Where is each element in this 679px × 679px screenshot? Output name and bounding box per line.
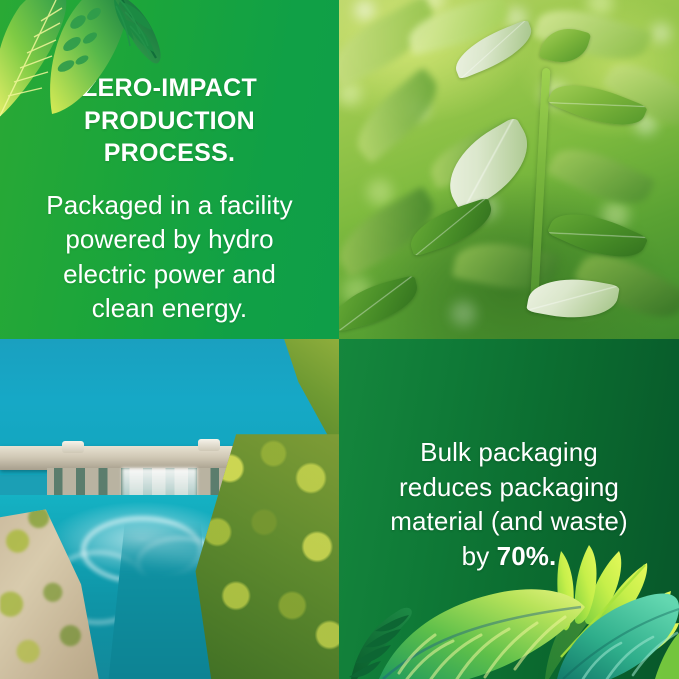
zero-impact-copy: ZERO-IMPACT PRODUCTION PROCESS. Packaged… bbox=[0, 72, 339, 326]
panel-zero-impact: ZERO-IMPACT PRODUCTION PROCESS. Packaged… bbox=[0, 0, 339, 339]
dam-tower-mid bbox=[198, 439, 220, 451]
dam-tower-left bbox=[62, 441, 84, 453]
eco-infographic: ZERO-IMPACT PRODUCTION PROCESS. Packaged… bbox=[0, 0, 679, 679]
body-line-4: by 70%. bbox=[359, 539, 659, 574]
body-line-4: clean energy. bbox=[22, 291, 317, 326]
body-line-3: material (and waste) bbox=[359, 504, 659, 539]
page-title: ZERO-IMPACT PRODUCTION PROCESS. bbox=[22, 72, 317, 170]
banana-leaf-icon bbox=[379, 589, 585, 679]
panel-bulk-packaging: Bulk packaging reduces packaging materia… bbox=[339, 339, 679, 679]
tea-leaf-bottom-left bbox=[339, 275, 424, 333]
body-line-1: Packaged in a facility bbox=[22, 188, 317, 223]
tea-plantation-image bbox=[339, 0, 679, 339]
body-line-1: Bulk packaging bbox=[359, 435, 659, 470]
body-line-2: reduces packaging bbox=[359, 470, 659, 505]
fern-frond-icon bbox=[349, 608, 412, 679]
hydroelectric-dam-image bbox=[0, 339, 339, 679]
zero-impact-body: Packaged in a facility powered by hydro … bbox=[22, 188, 317, 326]
panel-tea-plantation bbox=[339, 0, 679, 339]
headline-line-1: ZERO-IMPACT bbox=[22, 72, 317, 105]
panel-hydro-dam bbox=[0, 339, 339, 679]
body-line-4-prefix: by bbox=[462, 541, 497, 571]
teal-leaf-icon bbox=[557, 593, 679, 679]
reduction-percentage: 70%. bbox=[497, 541, 557, 571]
headline-line-2: PRODUCTION PROCESS. bbox=[22, 105, 317, 170]
body-line-2: powered by hydro bbox=[22, 222, 317, 257]
body-line-3: electric power and bbox=[22, 257, 317, 292]
bulk-packaging-copy: Bulk packaging reduces packaging materia… bbox=[339, 435, 679, 573]
small-frond-icon bbox=[655, 633, 679, 679]
